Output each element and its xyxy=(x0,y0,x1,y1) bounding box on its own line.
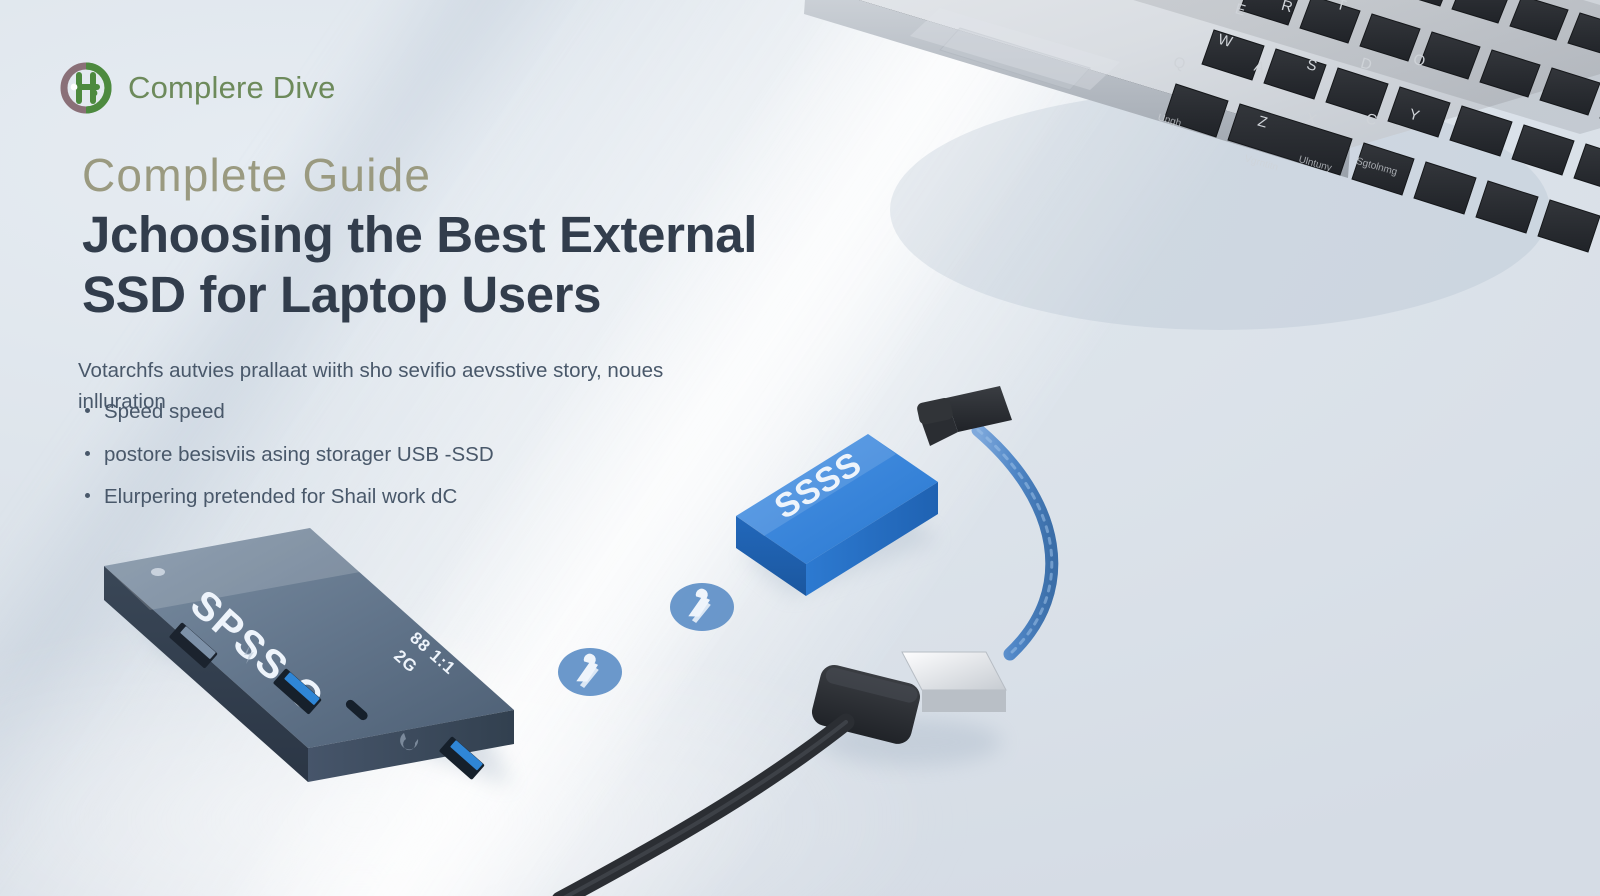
feature-bullet-list: Speed speed postore besisviis asing stor… xyxy=(78,398,718,526)
usb-dongle-device: SSSS xyxy=(736,434,938,596)
list-item: postore besisviis asing storager USB -SS… xyxy=(78,441,718,469)
transfer-badge xyxy=(670,583,734,631)
page-title-line-1: Jchoosing the Best External xyxy=(82,206,757,263)
list-item: Elurpering pretended for Shail work dC xyxy=(78,483,718,511)
poster-canvas: 180 % Prao Dlye 40 m See18H00 Mofl xyxy=(0,0,1600,896)
brand-name: Complere Dive xyxy=(128,70,336,106)
status-led xyxy=(151,568,165,576)
list-item: Speed speed xyxy=(78,398,718,426)
usb-cable xyxy=(560,722,846,896)
usb-a-metal-shell xyxy=(902,652,1006,690)
circular-monogram-logo xyxy=(60,62,112,114)
eyebrow-text: Complete Guide xyxy=(82,148,431,202)
ssd-hub-device: SPSS-C 88 1:1 2G xyxy=(104,528,514,786)
transfer-badge xyxy=(558,648,622,696)
usb-a-plug xyxy=(560,652,1006,896)
braided-cable xyxy=(978,430,1052,654)
page-title: Jchoosing the Best External SSD for Lapt… xyxy=(82,205,842,324)
right-angle-connector xyxy=(916,386,1012,446)
brand-lockup[interactable]: Complere Dive xyxy=(60,62,336,114)
page-title-line-2: SSD for Laptop Users xyxy=(82,265,842,325)
